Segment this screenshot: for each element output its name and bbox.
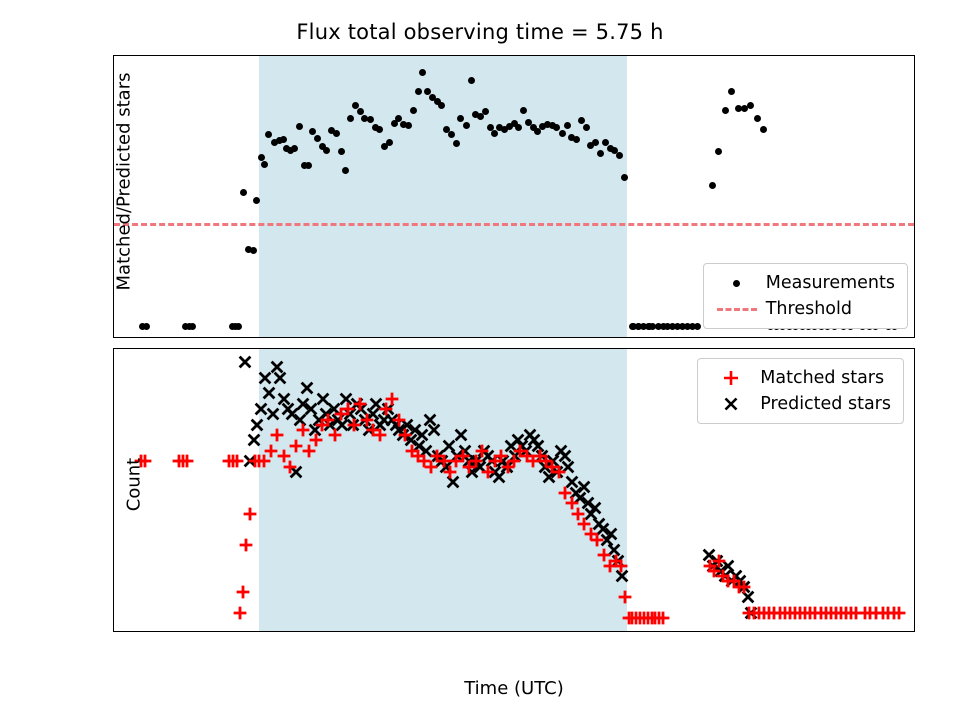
x-tick-label: 00:00	[626, 631, 676, 632]
measurement-point	[453, 140, 460, 147]
predicted-star-marker	[577, 480, 591, 494]
measurement-point	[709, 182, 716, 189]
matched-star-marker	[309, 433, 323, 447]
x-tick-label: 02:00	[754, 631, 804, 632]
matched-star-marker	[398, 428, 412, 442]
predicted-star-marker	[247, 433, 261, 447]
y-tick-mark	[113, 514, 114, 515]
measurement-point	[520, 107, 527, 114]
x-tick-label: 22:00	[498, 631, 548, 632]
matched-star-marker	[656, 611, 670, 625]
y-tick-mark	[113, 461, 114, 462]
predicted-cross-icon	[708, 395, 754, 413]
predicted-star-marker	[588, 501, 602, 515]
x-axis-label: Time (UTC)	[113, 678, 915, 699]
x-tick-mark	[268, 337, 269, 338]
measurement-point	[646, 323, 653, 330]
x-tick-mark	[908, 631, 909, 632]
x-tick-label: 16:00	[114, 631, 164, 632]
y-tick-mark	[113, 409, 114, 410]
matched-star-marker	[618, 590, 632, 604]
predicted-star-marker	[266, 407, 280, 421]
bottom-panel-axes: 203040506070 16:0018:0020:0022:0000:0002…	[113, 348, 915, 632]
x-tick-mark	[780, 337, 781, 338]
measurement-point	[564, 122, 571, 129]
figure-title: Flux total observing time = 5.75 h	[0, 20, 960, 44]
legend-entry-measurements: Measurements	[714, 270, 895, 296]
matched-star-marker	[328, 428, 342, 442]
measurement-point	[250, 247, 257, 254]
measurement-point	[715, 148, 722, 155]
predicted-star-marker	[250, 418, 264, 432]
measurement-point	[338, 148, 345, 155]
measurement-point	[357, 108, 364, 115]
measurement-point	[482, 108, 489, 115]
legend-label-threshold: Threshold	[760, 299, 852, 319]
predicted-star-marker	[604, 527, 618, 541]
matched-star-marker	[552, 465, 566, 479]
y-tick-mark	[113, 357, 114, 358]
predicted-star-marker	[454, 428, 468, 442]
measurement-point	[143, 323, 150, 330]
x-tick-mark	[140, 337, 141, 338]
measurement-point	[592, 139, 599, 146]
measurement-point	[314, 135, 321, 142]
predicted-star-marker	[273, 371, 287, 385]
legend-label-predicted-stars: Predicted stars	[754, 394, 891, 414]
top-panel-legend[interactable]: Measurements Threshold	[703, 263, 908, 329]
legend-entry-predicted-stars: Predicted stars	[708, 391, 891, 417]
measurement-point	[261, 161, 268, 168]
top-panel-y-axis-label: Matched/Predicted stars	[114, 55, 135, 338]
matched-star-marker	[243, 507, 257, 521]
measurement-point	[722, 107, 729, 114]
x-tick-mark	[908, 337, 909, 338]
predicted-star-marker	[238, 355, 252, 369]
matched-star-marker	[270, 428, 284, 442]
measurement-point	[240, 189, 247, 196]
x-tick-label: 18:00	[242, 631, 292, 632]
x-tick-label: 20:00	[370, 631, 420, 632]
x-tick-mark	[396, 631, 397, 632]
matched-star-marker	[373, 428, 387, 442]
matched-star-marker	[385, 392, 399, 406]
top-panel-axes: 0.000.250.500.751.001.25 Matched/Predict…	[113, 55, 915, 338]
measurement-point	[189, 323, 196, 330]
x-tick-mark	[396, 337, 397, 338]
shaded-observing-window-top	[259, 56, 627, 337]
measurement-point	[573, 136, 580, 143]
x-tick-mark	[268, 631, 269, 632]
measurement-point	[728, 88, 735, 95]
figure-canvas: Flux total observing time = 5.75 h 0.000…	[0, 0, 960, 720]
matched-star-marker	[737, 580, 751, 594]
measurement-point	[386, 139, 393, 146]
bottom-panel-y-axis-label: Count	[124, 355, 145, 615]
measurement-point	[747, 102, 754, 109]
measurements-dot-icon	[714, 280, 760, 287]
threshold-dash-icon	[714, 308, 760, 311]
matched-star-marker	[236, 585, 250, 599]
x-tick-label: 04:00	[882, 631, 915, 632]
y-tick-mark	[113, 618, 114, 619]
measurement-point	[333, 130, 340, 137]
measurement-point	[760, 126, 767, 133]
measurement-point	[448, 131, 455, 138]
matched-star-marker	[180, 454, 194, 468]
measurement-point	[463, 122, 470, 129]
legend-label-measurements: Measurements	[760, 273, 895, 293]
matched-star-marker	[233, 606, 247, 620]
measurement-point	[253, 197, 260, 204]
matched-star-marker	[590, 533, 604, 547]
predicted-star-marker	[427, 423, 441, 437]
measurement-point	[415, 88, 422, 95]
matched-star-marker	[614, 559, 628, 573]
legend-entry-matched-stars: Matched stars	[708, 365, 891, 391]
measurement-point	[559, 130, 566, 137]
measurement-point	[410, 107, 417, 114]
measurement-point	[235, 323, 242, 330]
predicted-star-marker	[262, 386, 276, 400]
measurement-point	[694, 323, 701, 330]
x-tick-mark	[140, 631, 141, 632]
matched-star-marker	[892, 606, 906, 620]
matched-plus-icon	[708, 369, 754, 387]
legend-label-matched-stars: Matched stars	[754, 368, 884, 388]
measurement-point	[367, 116, 374, 123]
threshold-line	[114, 223, 914, 226]
x-tick-mark	[652, 337, 653, 338]
x-tick-mark	[780, 631, 781, 632]
measurement-point	[754, 115, 761, 122]
legend-entry-threshold: Threshold	[714, 296, 895, 322]
matched-star-marker	[712, 554, 726, 568]
measurement-point	[280, 136, 287, 143]
matched-star-marker	[239, 538, 253, 552]
measurement-point	[305, 162, 312, 169]
measurement-point	[578, 117, 585, 124]
matched-star-marker	[392, 413, 406, 427]
y-tick-mark	[113, 566, 114, 567]
x-tick-mark	[524, 631, 525, 632]
measurement-point	[265, 131, 272, 138]
x-tick-mark	[524, 337, 525, 338]
matched-star-marker	[283, 460, 297, 474]
x-tick-mark	[652, 631, 653, 632]
matched-star-marker	[230, 454, 244, 468]
predicted-star-marker	[300, 381, 314, 395]
matched-star-marker	[353, 397, 367, 411]
bottom-panel-legend[interactable]: Matched stars Predicted stars	[697, 358, 904, 424]
